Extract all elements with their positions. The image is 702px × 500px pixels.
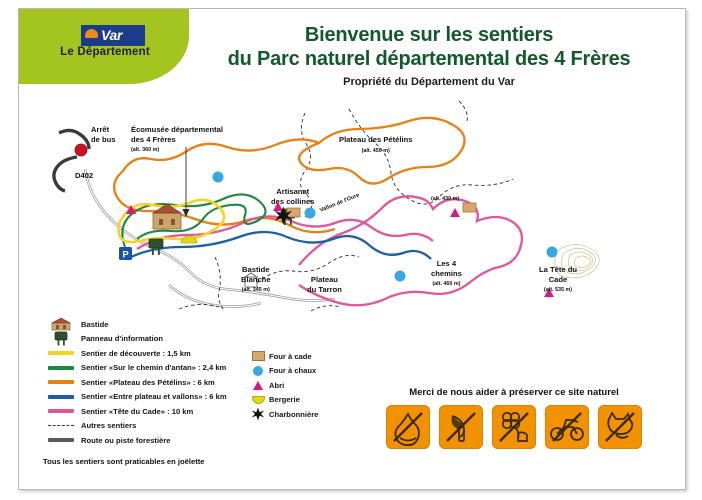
symbol-label: Bergerie xyxy=(269,395,300,404)
parking-marker: P xyxy=(119,247,132,261)
legend-label: Sentier «Entre plateau et vallons» : 6 k… xyxy=(81,392,227,401)
poster-title-block: Bienvenue sur les sentiers du Parc natur… xyxy=(194,23,664,88)
var-logo-text: Var xyxy=(101,27,122,43)
map-label-plateau-petelins: Plateau des Pétélins(alt. 450 m) xyxy=(339,135,412,156)
bastide-icon xyxy=(41,317,81,331)
legend-label: Sentier «Tête du Cade» : 10 km xyxy=(81,407,193,416)
svg-text:P: P xyxy=(122,250,129,261)
joelette-note: Tous les sentiers sont praticables en jo… xyxy=(43,457,371,466)
map-label-alt-430: (alt. 430 m) xyxy=(431,193,459,205)
symbol-label: Four à chaux xyxy=(269,366,316,375)
triangle-pink-icon xyxy=(247,381,269,390)
var-logo-box: Var xyxy=(81,25,145,46)
legend-label: Sentier de découverte : 1,5 km xyxy=(81,349,191,358)
trail-yellow-swatch xyxy=(41,351,81,355)
map-label-tete-du-cade: La Tête duCade (alt. 535 m) xyxy=(539,265,577,296)
trail-pink-swatch xyxy=(41,409,81,413)
symbol-label: Charbonnière xyxy=(269,410,318,419)
legend-label: Sentier «Plateau des Pétélins» : 6 km xyxy=(81,378,215,387)
symbol-item-four-a-cade: Four à cade xyxy=(247,349,387,364)
map-label-road-d402: D402 xyxy=(75,171,93,181)
poster-root: Conception, réalisation et impression : … xyxy=(0,0,702,500)
dome-yellow-icon xyxy=(247,396,269,404)
sun-icon xyxy=(85,29,98,42)
map-label-plateau-tarron: Plateaudu Tarron xyxy=(307,275,342,294)
info-panel-icon xyxy=(41,331,81,346)
star-black-icon xyxy=(247,407,269,421)
var-department-logo: Var Le Département xyxy=(55,25,155,69)
no-fire-icon xyxy=(386,405,430,449)
trail-map: P xyxy=(19,87,685,317)
map-label-bastide-blanche: BastideBlanche (alt. 345 m) xyxy=(241,265,271,296)
symbol-label: Abri xyxy=(269,381,284,390)
legend-label: Route ou piste forestière xyxy=(81,436,170,445)
no-picking-icon xyxy=(492,405,536,449)
map-label-bus-stop: Arrêtde bus xyxy=(91,125,115,144)
bus-stop-dot-icon xyxy=(75,144,87,156)
legend-item-forest-road: Route ou piste forestière xyxy=(41,433,371,448)
circle-blue-icon xyxy=(247,366,269,376)
no-cutting-icon xyxy=(439,405,483,449)
bastide-marker xyxy=(153,204,181,229)
map-label-les-4-chemins: Les 4chemins (alt. 460 m) xyxy=(431,259,462,290)
information-panel: Var Le Département Bienvenue sur les sen… xyxy=(18,8,686,490)
preserve-section: Merci de nous aider à préserver ce site … xyxy=(359,387,669,449)
symbol-label: Four à cade xyxy=(269,352,312,361)
dashed-line-icon xyxy=(41,425,81,426)
map-label-artisanat: Artisanatdes collines xyxy=(271,187,314,206)
access-road-line xyxy=(54,130,89,191)
title-line-1: Bienvenue sur les sentiers xyxy=(194,23,664,47)
title-line-2: du Parc naturel départemental des 4 Frèr… xyxy=(194,47,664,71)
no-motorbike-icon xyxy=(545,405,589,449)
no-dogs-icon xyxy=(598,405,642,449)
trail-orange-swatch xyxy=(41,380,81,384)
department-label: Le Département xyxy=(55,46,155,58)
trail-green-swatch xyxy=(41,366,81,370)
legend-item-bastide: Bastide xyxy=(41,317,371,332)
legend-label: Panneau d'information xyxy=(81,334,163,343)
square-tan-icon xyxy=(247,351,269,361)
legend-label: Autres sentiers xyxy=(81,421,136,430)
four-a-cade-marker-2 xyxy=(463,203,476,212)
preserve-title: Merci de nous aider à préserver ce site … xyxy=(359,387,669,398)
legend-item-info-panel: Panneau d'information xyxy=(41,332,371,347)
pictogram-row xyxy=(359,405,669,449)
forest-road-swatch xyxy=(41,438,81,442)
symbol-item-four-a-chaux: Four à chaux xyxy=(247,364,387,379)
legend-label: Sentier «Sur le chemin d'antan» : 2,4 km xyxy=(81,363,226,372)
trail-blue-swatch xyxy=(41,395,81,399)
legend-label: Bastide xyxy=(81,320,108,329)
map-label-ecomusee: Écomusée départementaldes 4 Frères (alt.… xyxy=(131,125,223,156)
